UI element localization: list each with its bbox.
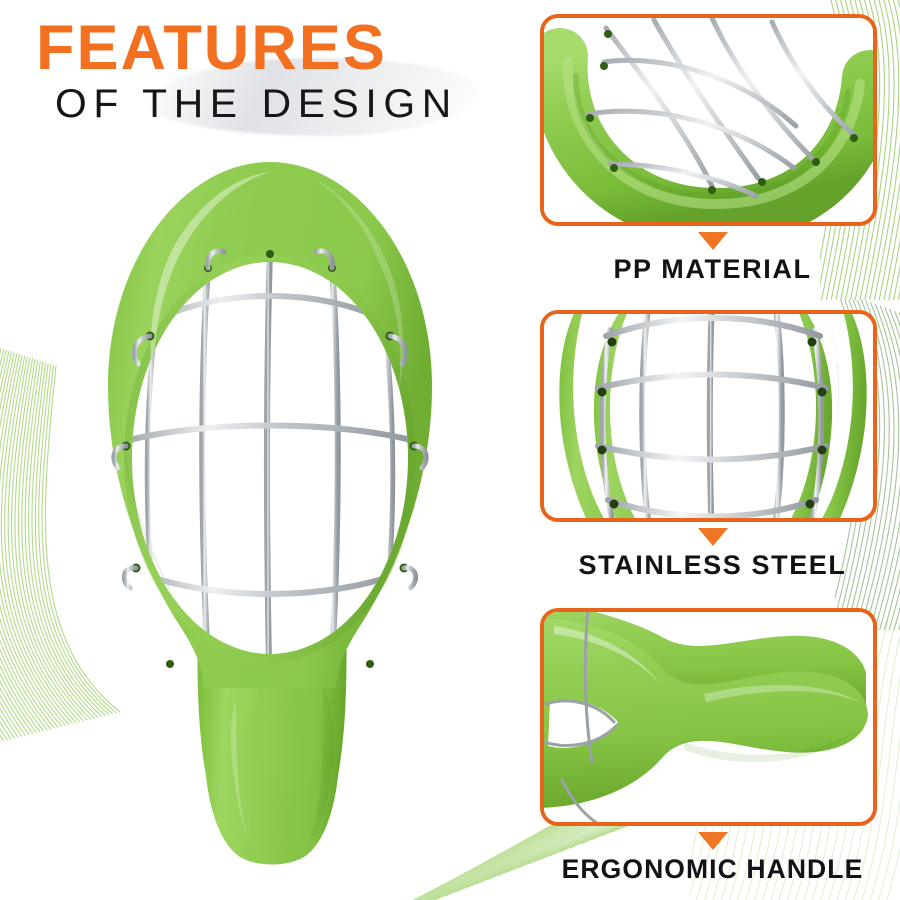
header: FEATURES OF THE DESIGN xyxy=(0,0,540,140)
feature-item-stainless-steel[interactable]: STAINLESS STEEL xyxy=(540,310,885,580)
product-illustration xyxy=(60,140,480,880)
feature-image-pp-material xyxy=(544,18,877,226)
features-column: PP MATERIAL xyxy=(540,0,900,900)
feature-item-pp-material[interactable]: PP MATERIAL xyxy=(540,14,885,284)
triangle-down-icon xyxy=(698,832,728,850)
feature-label-ergonomic-handle: ERGONOMIC HANDLE xyxy=(540,854,885,884)
infographic-canvas: FEATURES OF THE DESIGN xyxy=(0,0,900,900)
feature-card-pp-material[interactable] xyxy=(540,14,877,226)
hero-product-image xyxy=(60,140,480,880)
feature-card-ergonomic-handle[interactable] xyxy=(540,608,877,826)
feature-label-stainless-steel: STAINLESS STEEL xyxy=(540,550,885,580)
feature-image-ergonomic-handle xyxy=(544,612,877,826)
feature-image-stainless-steel xyxy=(544,314,877,522)
page-subtitle: OF THE DESIGN xyxy=(55,84,458,124)
feature-item-ergonomic-handle[interactable]: ERGONOMIC HANDLE xyxy=(540,608,885,884)
page-title: FEATURES xyxy=(36,17,387,80)
feature-label-pp-material: PP MATERIAL xyxy=(540,254,885,284)
feature-card-stainless-steel[interactable] xyxy=(540,310,877,522)
triangle-down-icon xyxy=(698,528,728,546)
triangle-down-icon xyxy=(698,232,728,250)
